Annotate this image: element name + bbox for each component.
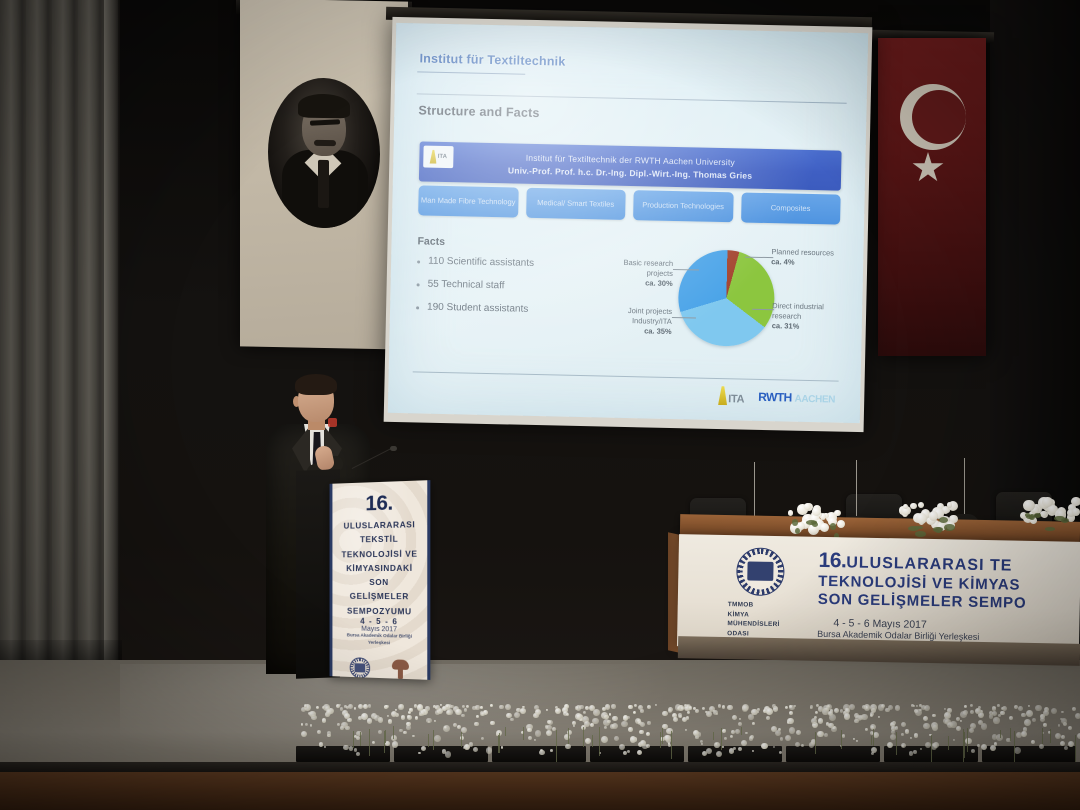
garland-bloom <box>546 730 552 736</box>
garland-bloom <box>1009 716 1014 721</box>
curtain-edge-highlight <box>104 0 120 672</box>
podium-title-line: GELİŞMELER <box>332 589 427 604</box>
tmmob-logo-text: TMMOB KİMYA MÜHENDİSLERİ ODASI <box>721 600 798 640</box>
slide-header-rule <box>417 71 525 74</box>
garland-bloom <box>520 708 526 714</box>
garland-bloom <box>646 732 650 736</box>
bursa-tree-icon <box>392 659 409 679</box>
garland-bloom <box>401 715 406 720</box>
garland-bloom <box>881 704 885 708</box>
garland-bloom <box>787 721 790 724</box>
pie-label-basic-research: Basic research projects ca. 30% <box>599 257 674 289</box>
podium-title-line: KİMYASINDAKİ <box>332 560 427 575</box>
garland-bloom <box>619 744 625 750</box>
garland-bloom <box>378 730 383 735</box>
garland-bloom <box>845 708 849 712</box>
garland-bloom <box>919 709 922 712</box>
garland-bloom <box>862 705 866 709</box>
garland-sprig <box>671 731 672 759</box>
garland-bloom <box>818 718 823 723</box>
garland-bloom <box>870 704 877 711</box>
rwth-footer-logo: RWTH AACHEN <box>758 389 835 405</box>
garland-bloom <box>534 739 536 741</box>
ataturk-portrait-icon <box>268 77 380 229</box>
garland-bloom <box>901 722 906 727</box>
garland-bloom <box>301 723 303 725</box>
garland-bloom <box>305 723 308 726</box>
garland-bloom <box>322 718 327 723</box>
garland-bloom <box>796 730 801 735</box>
garland-bloom <box>858 715 863 720</box>
fact-item: 190 Student assistants <box>416 301 606 316</box>
garland-bloom <box>865 728 868 731</box>
garland-bloom <box>923 716 929 722</box>
garland-bloom <box>426 718 431 723</box>
garland-bloom <box>317 730 321 734</box>
garland-sprig <box>660 732 661 747</box>
garland-bloom <box>818 706 823 711</box>
podium-microphone <box>352 432 394 474</box>
garland-bloom <box>340 707 344 711</box>
facts-heading: Facts <box>417 235 445 248</box>
garland-bloom <box>319 742 323 746</box>
podium-title-line: TEKNOLOJİSİ VE <box>332 546 427 561</box>
garland-sprig <box>353 731 354 749</box>
flower-bloom <box>834 510 841 517</box>
banner-number: 16. <box>818 549 846 573</box>
garland-bloom <box>1061 711 1063 713</box>
stage-flower-garland <box>296 700 1080 766</box>
slide-divider-rule <box>417 93 847 103</box>
garland-bloom <box>842 734 845 737</box>
garland-bloom <box>823 705 829 711</box>
garland-bloom <box>442 706 447 711</box>
garland-bloom <box>969 728 974 733</box>
pie-label-name: Planned resources <box>771 247 834 257</box>
garland-bloom <box>771 726 777 732</box>
garland-bloom <box>1026 710 1033 717</box>
garland-sprig <box>505 727 506 735</box>
tmmob-gear-icon <box>350 657 370 679</box>
garland-bloom <box>992 711 997 716</box>
podium-sign-date-block: 4 - 5 - 6 Mayıs 2017 Bursa Akademik Odal… <box>346 617 413 648</box>
garland-bloom <box>981 723 988 730</box>
garland-bloom <box>601 736 608 743</box>
portrait-moustache <box>314 140 336 146</box>
garland-bloom <box>913 750 917 754</box>
garland-bloom <box>1032 718 1036 722</box>
garland-bloom <box>1060 718 1062 720</box>
garland-bloom <box>724 737 727 740</box>
ataturk-portrait-banner <box>240 0 408 350</box>
microphone-head <box>390 446 397 451</box>
garland-bloom <box>655 704 657 706</box>
spool-icon <box>718 386 727 405</box>
garland-bloom <box>901 733 904 736</box>
garland-bloom <box>785 735 791 741</box>
flower-leaf <box>1045 527 1055 531</box>
garland-bloom <box>853 738 855 740</box>
microphone-stem <box>352 448 392 469</box>
garland-bloom <box>947 708 951 712</box>
pie-label-value: ca. 30% <box>645 279 673 289</box>
garland-bloom <box>316 706 319 709</box>
garland-bloom <box>1040 717 1046 723</box>
garland-bloom <box>773 746 775 748</box>
garland-bloom <box>406 725 411 730</box>
garland-sprig <box>815 732 816 754</box>
garland-bloom <box>344 713 350 719</box>
podium-sign: 16. ULUSLARARASI TEKSTİL TEKNOLOJİSİ VE … <box>330 480 431 680</box>
garland-bloom <box>878 716 880 718</box>
garland-bloom <box>766 708 773 715</box>
garland-bloom <box>718 704 722 708</box>
garland-bloom <box>757 708 760 711</box>
garland-bloom <box>766 716 770 720</box>
garland-sprig <box>896 732 897 755</box>
garland-sprig <box>841 730 842 750</box>
flower-bloom <box>910 503 917 510</box>
garland-bloom <box>895 705 901 711</box>
garland-bloom <box>480 706 483 709</box>
turkish-flag-banner <box>878 38 986 356</box>
garland-bloom <box>481 712 485 716</box>
pie-label-planned-resources: Planned resources ca. 4% <box>771 247 837 269</box>
garland-bloom <box>327 731 331 735</box>
garland-bloom <box>682 717 687 722</box>
portrait-tie <box>318 160 329 208</box>
bullet-icon <box>416 306 419 309</box>
flower-bloom <box>788 510 793 515</box>
garland-bloom <box>749 736 753 740</box>
garland-bloom <box>391 735 397 741</box>
garland-bloom <box>1001 707 1004 710</box>
garland-bloom <box>944 708 946 710</box>
competence-box-production: Production Technologies <box>633 190 733 222</box>
garland-bloom <box>885 708 890 713</box>
garland-bloom <box>844 713 850 719</box>
garland-bloom <box>1028 705 1030 707</box>
garland-bloom <box>960 711 967 718</box>
garland-bloom <box>403 731 406 734</box>
garland-bloom <box>910 737 912 739</box>
garland-sprig <box>931 735 932 762</box>
flower-bloom <box>903 504 908 509</box>
portrait-hair <box>298 94 350 119</box>
garland-bloom <box>970 704 973 707</box>
garland-bloom <box>689 706 693 710</box>
garland-bloom <box>992 734 998 740</box>
conference-photo-scene: Institut für Textiltechnik Structure and… <box>0 0 1080 810</box>
garland-sprig <box>662 728 663 744</box>
garland-bloom <box>738 722 742 726</box>
garland-bloom <box>612 716 618 722</box>
garland-bloom <box>621 721 628 728</box>
garland-bloom <box>902 745 904 747</box>
garland-bloom <box>956 717 960 721</box>
fact-text: 55 Technical staff <box>427 279 504 292</box>
slide-footer-logos: ITA RWTH AACHEN <box>718 386 835 408</box>
garland-bloom <box>409 708 412 711</box>
garland-bloom <box>356 752 360 756</box>
garland-bloom <box>772 704 776 708</box>
garland-sprig <box>1000 730 1001 738</box>
garland-bloom <box>1058 724 1060 726</box>
garland-bloom <box>647 705 652 710</box>
podium-sign-number: 16. <box>332 490 427 517</box>
garland-bloom <box>977 744 980 747</box>
garland-bloom <box>953 739 955 741</box>
garland-bloom <box>828 711 833 716</box>
garland-bloom <box>630 736 637 743</box>
garland-bloom <box>510 718 514 722</box>
banner-title-text1: ULUSLARARASI TE <box>846 554 1012 574</box>
garland-sprig <box>741 727 742 736</box>
garland-sprig <box>433 730 434 750</box>
garland-bloom <box>573 725 575 727</box>
garland-bloom <box>326 709 332 715</box>
garland-bloom <box>1016 732 1022 738</box>
garland-bloom <box>702 707 706 711</box>
garland-bloom <box>732 715 737 720</box>
garland-bloom <box>361 713 368 720</box>
facts-list: 110 Scientific assistants 55 Technical s… <box>416 255 607 328</box>
garland-bloom <box>956 726 961 731</box>
pie-label-value: ca. 4% <box>771 257 795 267</box>
garland-bloom <box>534 705 539 710</box>
garland-bloom <box>415 716 418 719</box>
garland-bloom <box>368 704 371 707</box>
flower-planter <box>786 746 880 762</box>
garland-bloom <box>527 728 532 733</box>
garland-bloom <box>1018 706 1023 711</box>
flower-bloom <box>916 513 927 524</box>
head-table-banner: TMMOB KİMYA MÜHENDİSLERİ ODASI 16.ULUSLA… <box>677 534 1080 654</box>
garland-bloom <box>778 728 781 731</box>
garland-bloom <box>662 711 667 716</box>
garland-bloom <box>395 709 397 711</box>
garland-bloom <box>964 705 967 708</box>
garland-bloom <box>419 710 425 716</box>
garland-bloom <box>583 711 586 714</box>
garland-bloom <box>1043 710 1049 716</box>
garland-bloom <box>695 709 699 713</box>
flower-leaf <box>1034 513 1042 517</box>
garland-bloom <box>490 721 495 726</box>
garland-bloom <box>592 718 598 724</box>
garland-sprig <box>393 726 394 739</box>
garland-bloom <box>761 743 767 749</box>
garland-bloom <box>628 705 632 709</box>
garland-sprig <box>599 727 600 755</box>
garland-bloom <box>445 751 451 757</box>
garland-bloom <box>505 704 511 710</box>
garland-bloom <box>817 731 823 737</box>
garland-bloom <box>856 740 859 743</box>
pie-chart-graphic <box>677 249 775 347</box>
garland-bloom <box>970 710 974 714</box>
garland-bloom <box>367 718 373 724</box>
garland-bloom <box>457 725 461 729</box>
garland-bloom <box>340 726 343 729</box>
fact-text: 110 Scientific assistants <box>428 256 534 269</box>
garland-bloom <box>474 722 478 726</box>
garland-bloom <box>614 736 619 741</box>
garland-bloom <box>363 704 368 709</box>
garland-bloom <box>722 705 725 708</box>
garland-bloom <box>476 715 479 718</box>
slide-header: Institut für Textiltechnik <box>419 51 565 68</box>
garland-bloom <box>1051 708 1057 714</box>
garland-bloom <box>687 711 689 713</box>
garland-bloom <box>550 749 553 752</box>
garland-bloom <box>601 712 608 719</box>
flower-planter <box>982 746 1076 762</box>
flower-leaf <box>1026 515 1034 519</box>
garland-bloom <box>668 709 672 713</box>
garland-bloom <box>1077 733 1080 739</box>
garland-bloom <box>780 737 784 741</box>
garland-bloom <box>1014 747 1021 754</box>
garland-bloom <box>455 709 461 715</box>
garland-bloom <box>354 748 357 751</box>
flower-bouquet <box>1018 496 1080 530</box>
garland-sprig <box>713 732 714 740</box>
flower-leaf <box>1061 518 1069 523</box>
garland-bloom <box>387 715 389 717</box>
garland-bloom <box>609 713 612 716</box>
flower-bloom <box>837 520 845 528</box>
garland-bloom <box>810 705 814 709</box>
garland-sprig <box>873 729 874 746</box>
garland-bloom <box>464 708 468 712</box>
garland-bloom <box>1043 723 1046 726</box>
garland-bloom <box>1035 705 1042 712</box>
ita-footer-logo: ITA <box>718 386 744 406</box>
garland-sprig <box>384 731 385 753</box>
garland-bloom <box>633 711 636 714</box>
garland-bloom <box>602 707 606 711</box>
garland-bloom <box>407 715 413 721</box>
garland-sprig <box>967 728 968 752</box>
garland-sprig <box>523 727 524 740</box>
garland-bloom <box>913 705 915 707</box>
speaker-name-badge <box>328 418 337 427</box>
garland-bloom <box>603 719 610 726</box>
podium-title-line: TEKSTİL <box>332 531 427 547</box>
garland-bloom <box>870 714 873 717</box>
garland-bloom <box>566 713 569 716</box>
flower-leaf <box>795 528 800 534</box>
flower-bouquet <box>896 500 958 534</box>
garland-bloom <box>735 729 740 734</box>
garland-sprig <box>583 727 584 747</box>
garland-bloom <box>647 721 650 724</box>
garland-sprig <box>568 728 569 744</box>
microphone-stem <box>754 462 755 520</box>
garland-bloom <box>1075 713 1080 719</box>
garland-sprig <box>1042 728 1043 744</box>
flower-bloom <box>1072 508 1080 516</box>
garland-bloom <box>481 737 484 740</box>
slide-footer-rule <box>413 371 839 381</box>
pie-label-name: Basic research projects <box>623 258 673 278</box>
garland-bloom <box>923 723 929 729</box>
garland-bloom <box>1061 735 1065 739</box>
garland-bloom <box>664 735 671 742</box>
garland-bloom <box>834 708 839 713</box>
garland-bloom <box>931 722 938 729</box>
garland-bloom <box>895 726 899 730</box>
garland-bloom <box>343 745 348 750</box>
garland-sprig <box>592 735 593 748</box>
garland-bloom <box>535 730 541 736</box>
garland-bloom <box>739 718 742 721</box>
garland-bloom <box>444 726 447 729</box>
podium-sign-title: ULUSLARARASI TEKSTİL TEKNOLOJİSİ VE KİMY… <box>332 517 427 619</box>
garland-bloom <box>924 705 930 711</box>
microphone-stem <box>856 460 857 518</box>
garland-bloom <box>434 735 441 742</box>
garland-bloom <box>425 706 429 710</box>
garland-bloom <box>1021 713 1026 718</box>
flower-leaf <box>933 527 942 531</box>
garland-bloom <box>576 705 581 710</box>
pie-label-value: ca. 35% <box>644 327 672 337</box>
garland-bloom <box>815 711 818 714</box>
competence-box-medical: Medical/ Smart Textiles <box>526 188 626 220</box>
flower-bloom <box>820 523 829 532</box>
flower-bloom <box>1023 500 1034 511</box>
garland-bloom <box>514 712 521 719</box>
competence-box-fibre: Man Made Fibre Technology <box>418 185 518 217</box>
garland-bloom <box>475 705 479 709</box>
garland-bloom <box>789 705 794 710</box>
fact-item: 110 Scientific assistants <box>417 255 607 270</box>
pie-label-name: Direct industrial research <box>772 301 824 321</box>
garland-bloom <box>1014 705 1018 709</box>
garland-bloom <box>391 711 397 717</box>
garland-bloom <box>434 720 436 722</box>
garland-bloom <box>490 704 493 707</box>
pie-label-name: Joint projects Industry/ITA <box>628 306 672 326</box>
flower-leaf <box>811 521 817 525</box>
garland-bloom <box>499 705 504 710</box>
garland-sprig <box>721 728 722 750</box>
garland-bloom <box>1068 726 1072 730</box>
garland-sprig <box>369 729 370 756</box>
garland-bloom <box>634 704 637 707</box>
star-icon <box>912 152 944 184</box>
garland-bloom <box>730 735 733 738</box>
garland-bloom <box>354 707 357 710</box>
funding-pie-chart: Basic research projects ca. 30% Planned … <box>601 239 834 370</box>
garland-bloom <box>546 725 551 730</box>
garland-sprig <box>428 734 429 748</box>
garland-bloom <box>398 704 403 709</box>
flower-bloom <box>918 502 924 508</box>
presentation-slide: Institut für Textiltechnik Structure and… <box>388 23 868 423</box>
bullet-icon <box>417 260 420 263</box>
garland-sprig <box>556 730 557 762</box>
bullet-icon <box>417 283 420 286</box>
garland-bloom <box>385 705 389 709</box>
garland-bloom <box>727 705 732 710</box>
garland-bloom <box>418 752 421 755</box>
garland-bloom <box>604 726 607 729</box>
garland-bloom <box>627 750 630 753</box>
garland-sprig <box>1010 728 1011 741</box>
